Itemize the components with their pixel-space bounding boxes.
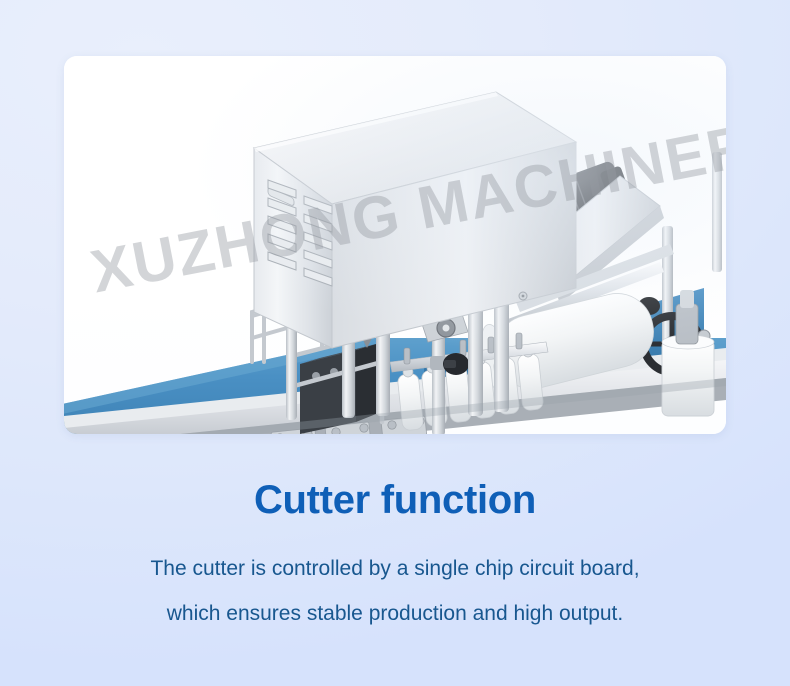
description-line-1: The cutter is controlled by a single chi…	[0, 546, 790, 591]
description-text: The cutter is controlled by a single chi…	[0, 524, 790, 636]
description-line-2: which ensures stable production and high…	[0, 591, 790, 636]
page-title: Cutter function	[0, 434, 790, 524]
cutter-machine-illustration	[64, 56, 726, 434]
promo-page: XUZHONG MACHINERY Cutter function The cu…	[0, 0, 790, 686]
caption-block: Cutter function The cutter is controlled…	[0, 434, 790, 636]
product-photo-card: XUZHONG MACHINERY	[64, 56, 726, 434]
